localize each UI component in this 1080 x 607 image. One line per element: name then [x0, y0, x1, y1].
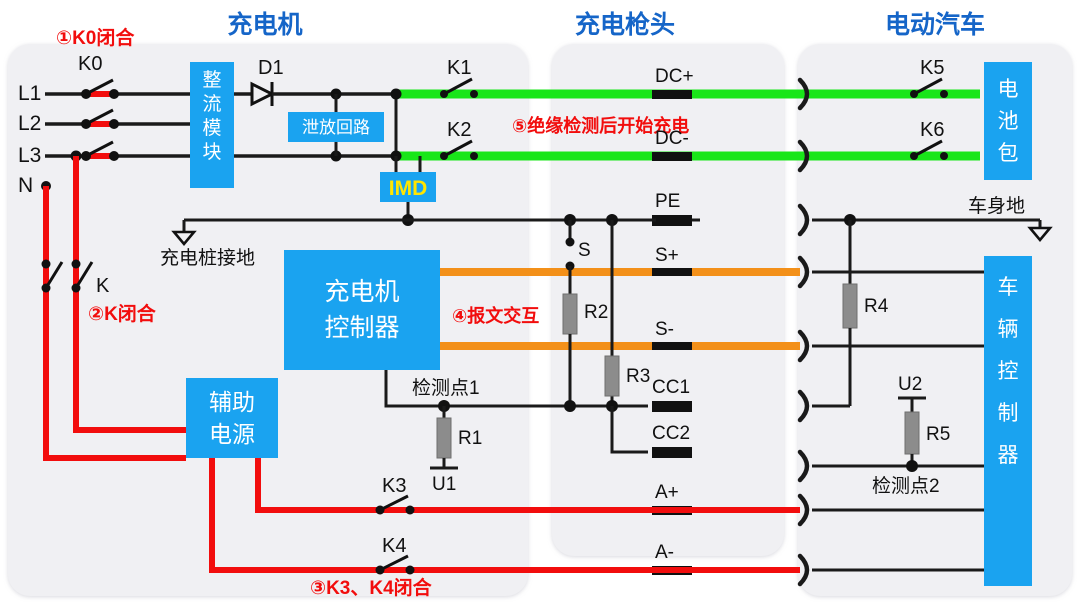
switch-K5-label: K5 [920, 57, 944, 79]
title-vehicle: 电动汽车 [885, 10, 985, 39]
diode-D1-label: D1 [258, 57, 284, 79]
pin-DC-plus [652, 90, 692, 99]
switch-K0-pole3-right-node [109, 151, 119, 161]
switch-K-label: K [96, 275, 110, 297]
node-test-point-2 [906, 460, 918, 472]
switch-K2-right-node [470, 152, 478, 160]
label-test-point-1: 检测点1 [412, 377, 480, 399]
block-imd-label: IMD [389, 177, 428, 200]
resistor-R5-label: R5 [926, 424, 950, 445]
resistor-R5 [905, 412, 919, 454]
switch-K-pole2-top-node [72, 260, 81, 269]
pin-S-plus-label: S+ [655, 245, 679, 266]
pin-CC1 [652, 401, 692, 412]
label-pile-ground: 充电桩接地 [160, 247, 255, 269]
resistor-R3 [605, 356, 619, 396]
annotation-step-2: ②K闭合 [88, 302, 157, 325]
annotation-step-4: ④报文交互 [452, 305, 539, 326]
pin-CC2-label: CC2 [652, 423, 690, 444]
block-aux-power-line2: 电源 [209, 421, 255, 447]
block-battery-pack-char-3: 包 [998, 142, 1019, 165]
voltmeter-U1-label: U1 [432, 474, 456, 495]
label-L1: L1 [18, 82, 41, 105]
label-L3: L3 [18, 144, 41, 167]
switch-S-label: S [578, 240, 591, 261]
resistor-R1-label: R1 [458, 428, 482, 449]
switch-K6-right-node [940, 152, 948, 160]
block-charger-controller-line1: 充电机 [324, 278, 399, 306]
block-vehicle-controller-char-2: 辆 [998, 318, 1019, 341]
resistor-R2 [563, 294, 577, 334]
block-rectifier-char-3: 模 [202, 117, 221, 139]
switch-K4-right-node [406, 566, 415, 575]
pin-A-minus-label: A- [655, 542, 674, 563]
voltmeter-U2-label: U2 [898, 374, 922, 395]
block-charger-controller-line2: 控制器 [324, 314, 399, 342]
label-test-point-2: 检测点2 [872, 475, 940, 497]
switch-K0-pole1-right-node [109, 89, 119, 99]
pin-CC2 [652, 447, 692, 458]
label-N: N [18, 174, 33, 197]
block-vehicle-controller-char-4: 制 [998, 402, 1019, 425]
title-charger: 充电机 [227, 10, 302, 39]
switch-K4-label: K4 [382, 535, 406, 557]
switch-S-top-node[interactable] [566, 238, 575, 247]
switch-K3-label: K3 [382, 475, 406, 497]
annotation-step-1: ①K0闭合 [56, 26, 135, 49]
switch-K0-label: K0 [78, 53, 102, 75]
charging-circuit-diagram: 充电机 充电枪头 电动汽车 L1 L2 L3 N K0 ①K0闭合 [0, 0, 1080, 607]
switch-K1-right-node [470, 90, 478, 98]
circuit-svg: 充电机 充电枪头 电动汽车 L1 L2 L3 N K0 ①K0闭合 [0, 0, 1080, 607]
pin-PE [652, 215, 692, 226]
pin-S-plus [652, 268, 692, 276]
pin-CC1-label: CC1 [652, 377, 690, 398]
block-battery-pack-char-2: 池 [998, 110, 1019, 133]
block-aux-power-line1: 辅助 [209, 389, 255, 415]
annotation-step-3: ③K3、K4闭合 [310, 576, 433, 599]
title-gun: 充电枪头 [575, 10, 675, 39]
switch-K6-label: K6 [920, 119, 944, 141]
pin-DC-plus-label: DC+ [655, 66, 694, 87]
switch-K1-label: K1 [447, 57, 471, 79]
pin-S-minus-label: S- [655, 319, 674, 340]
block-charger-controller [284, 250, 440, 370]
resistor-R4 [843, 284, 857, 328]
pin-A-plus-label: A+ [655, 482, 679, 503]
node-cc1-left [564, 400, 576, 412]
block-rectifier-char-1: 整 [202, 69, 221, 91]
label-body-ground: 车身地 [968, 195, 1025, 217]
node-dcbus-pos [391, 89, 402, 100]
resistor-R2-label: R2 [584, 302, 608, 323]
block-battery-pack-char-1: 电 [998, 78, 1019, 101]
switch-K3-right-node [406, 506, 415, 515]
switch-K2-label: K2 [447, 119, 471, 141]
label-L2: L2 [18, 112, 41, 135]
pin-DC-minus-label: DC- [655, 128, 689, 149]
resistor-R1 [437, 418, 451, 458]
resistor-R3-label: R3 [626, 366, 650, 387]
block-vehicle-controller-char-5: 器 [998, 444, 1019, 467]
block-discharge-circuit-label: 泄放回路 [302, 118, 370, 137]
pin-PE-label: PE [655, 191, 680, 212]
block-vehicle-controller-char-1: 车 [998, 276, 1019, 299]
block-vehicle-controller-char-3: 控 [998, 360, 1019, 383]
block-rectifier-char-4: 块 [202, 141, 221, 163]
switch-K-pole1-top-node [42, 260, 51, 269]
block-rectifier-char-2: 流 [202, 93, 221, 115]
pin-DC-minus [652, 152, 692, 161]
resistor-R4-label: R4 [864, 296, 889, 317]
switch-K0-pole2-right-node [109, 119, 119, 129]
switch-K5-right-node [940, 90, 948, 98]
pin-S-minus [652, 342, 692, 350]
